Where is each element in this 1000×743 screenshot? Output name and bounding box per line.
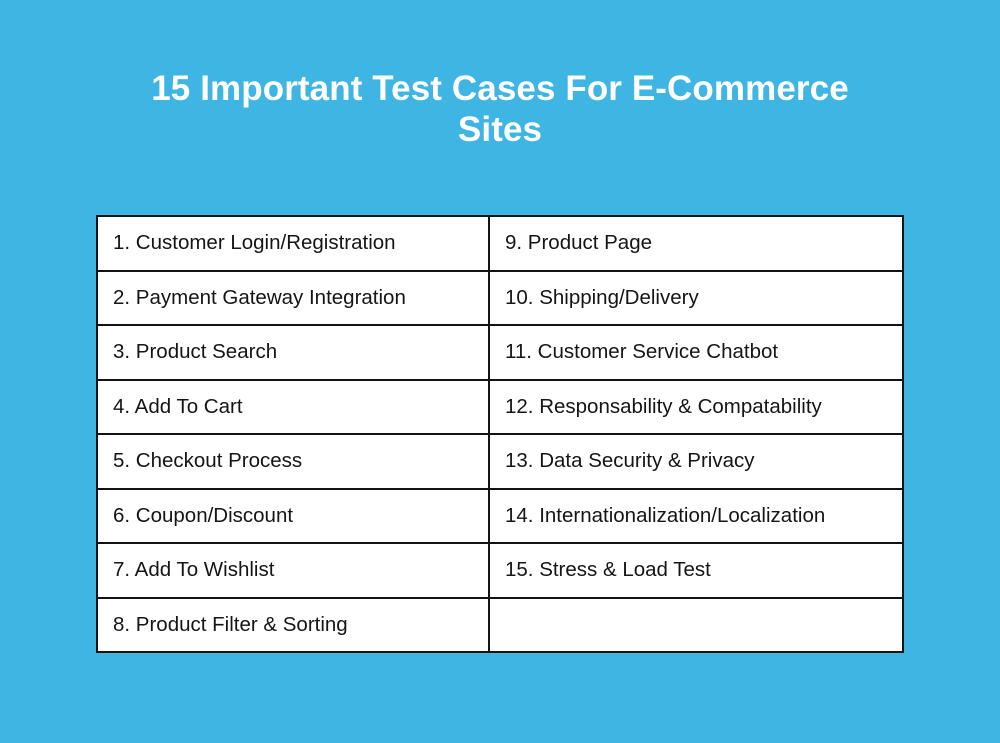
table-row: 8. Product Filter & Sorting xyxy=(98,599,488,652)
table-row: 3. Product Search xyxy=(98,326,488,381)
page-title-line-2: Sites xyxy=(110,109,890,150)
table-row: 7. Add To Wishlist xyxy=(98,544,488,599)
table-row: 5. Checkout Process xyxy=(98,435,488,490)
table-row-empty xyxy=(490,599,902,652)
table-row: 12. Responsability & Compatability xyxy=(490,381,902,436)
table-row: 9. Product Page xyxy=(490,217,902,272)
table-row: 11. Customer Service Chatbot xyxy=(490,326,902,381)
page-title: 15 Important Test Cases For E-Commerce S… xyxy=(110,68,890,150)
table-row: 14. Internationalization/Localization xyxy=(490,490,902,545)
page-title-line-1: 15 Important Test Cases For E-Commerce xyxy=(110,68,890,109)
table-row: 2. Payment Gateway Integration xyxy=(98,272,488,327)
table-column-left: 1. Customer Login/Registration 2. Paymen… xyxy=(98,217,490,651)
table-row: 13. Data Security & Privacy xyxy=(490,435,902,490)
table-row: 4. Add To Cart xyxy=(98,381,488,436)
poster-canvas: 15 Important Test Cases For E-Commerce S… xyxy=(0,0,1000,743)
table-row: 15. Stress & Load Test xyxy=(490,544,902,599)
table-row: 1. Customer Login/Registration xyxy=(98,217,488,272)
table-column-right: 9. Product Page 10. Shipping/Delivery 11… xyxy=(490,217,902,651)
table-row: 6. Coupon/Discount xyxy=(98,490,488,545)
table-row: 10. Shipping/Delivery xyxy=(490,272,902,327)
test-cases-table: 1. Customer Login/Registration 2. Paymen… xyxy=(96,215,904,653)
